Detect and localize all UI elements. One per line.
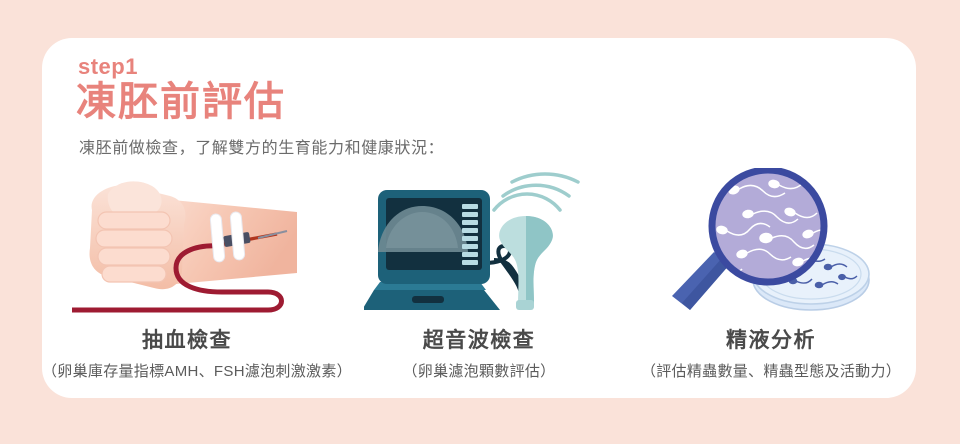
item-blood-test: 抽血檢查 （卵巢庫存量指標AMH、FSH濾泡刺激激素） [42,168,332,381]
step-label: step1 [78,54,138,80]
item-subtitle: （卵巢庫存量指標AMH、FSH濾泡刺激激素） [42,360,332,381]
item-subtitle: （卵巢濾泡顆數評估） [334,360,624,381]
item-semen-analysis: 精液分析 （評估精蟲數量、精蟲型態及活動力） [626,168,916,381]
blood-draw-arm-icon [42,168,332,318]
item-title: 精液分析 [626,324,916,354]
item-title: 超音波檢查 [334,324,624,354]
item-ultrasound: 超音波檢查 （卵巢濾泡顆數評估） [334,168,624,381]
content-card: step1 凍胚前評估 凍胚前做檢查，了解雙方的生育能力和健康狀況： [42,38,916,398]
item-title: 抽血檢查 [42,324,332,354]
magnifier-sperm-icon [626,168,916,318]
item-subtitle: （評估精蟲數量、精蟲型態及活動力） [626,360,916,381]
ultrasound-machine-icon [334,168,624,318]
page-subtitle: 凍胚前做檢查，了解雙方的生育能力和健康狀況： [79,134,444,158]
page-title: 凍胚前評估 [76,79,286,125]
